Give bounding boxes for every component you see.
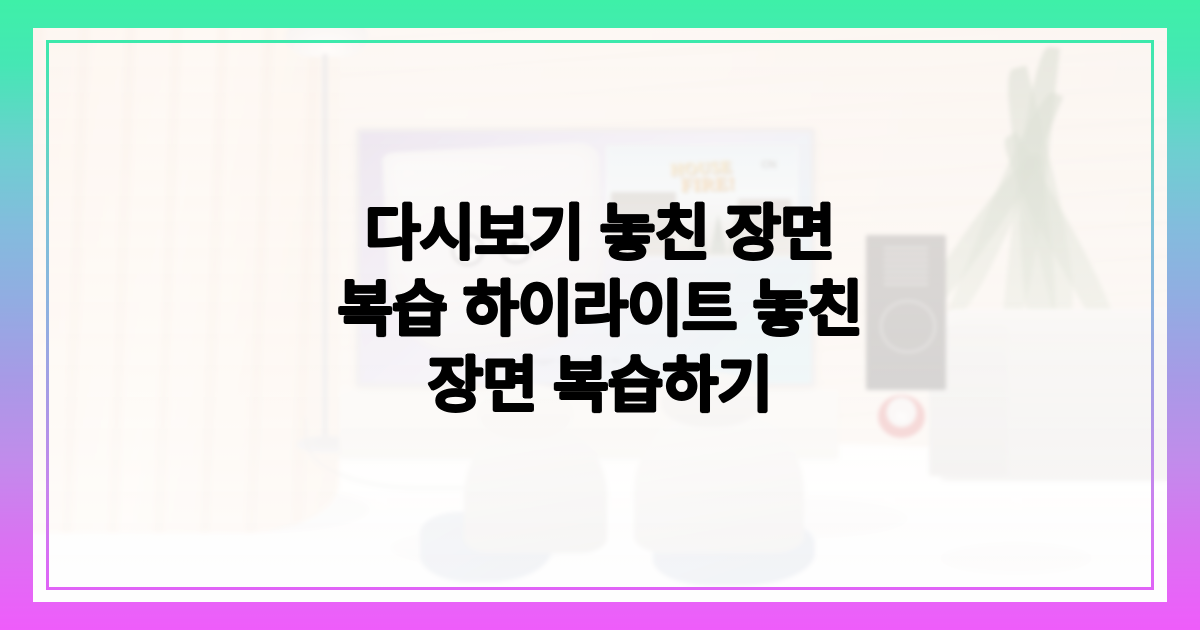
headline-line-3: 장면 복습하기	[120, 348, 1080, 424]
page-title: 다시보기 놓친 장면 복습 하이라이트 놓친 장면 복습하기	[0, 196, 1200, 425]
headline-line-1: 다시보기 놓친 장면	[120, 196, 1080, 272]
headline-line-2: 복습 하이라이트 놓친	[120, 272, 1080, 348]
thumbnail-canvas: HOUSE FIRE! CN приходит в дом кому-то	[0, 0, 1200, 630]
